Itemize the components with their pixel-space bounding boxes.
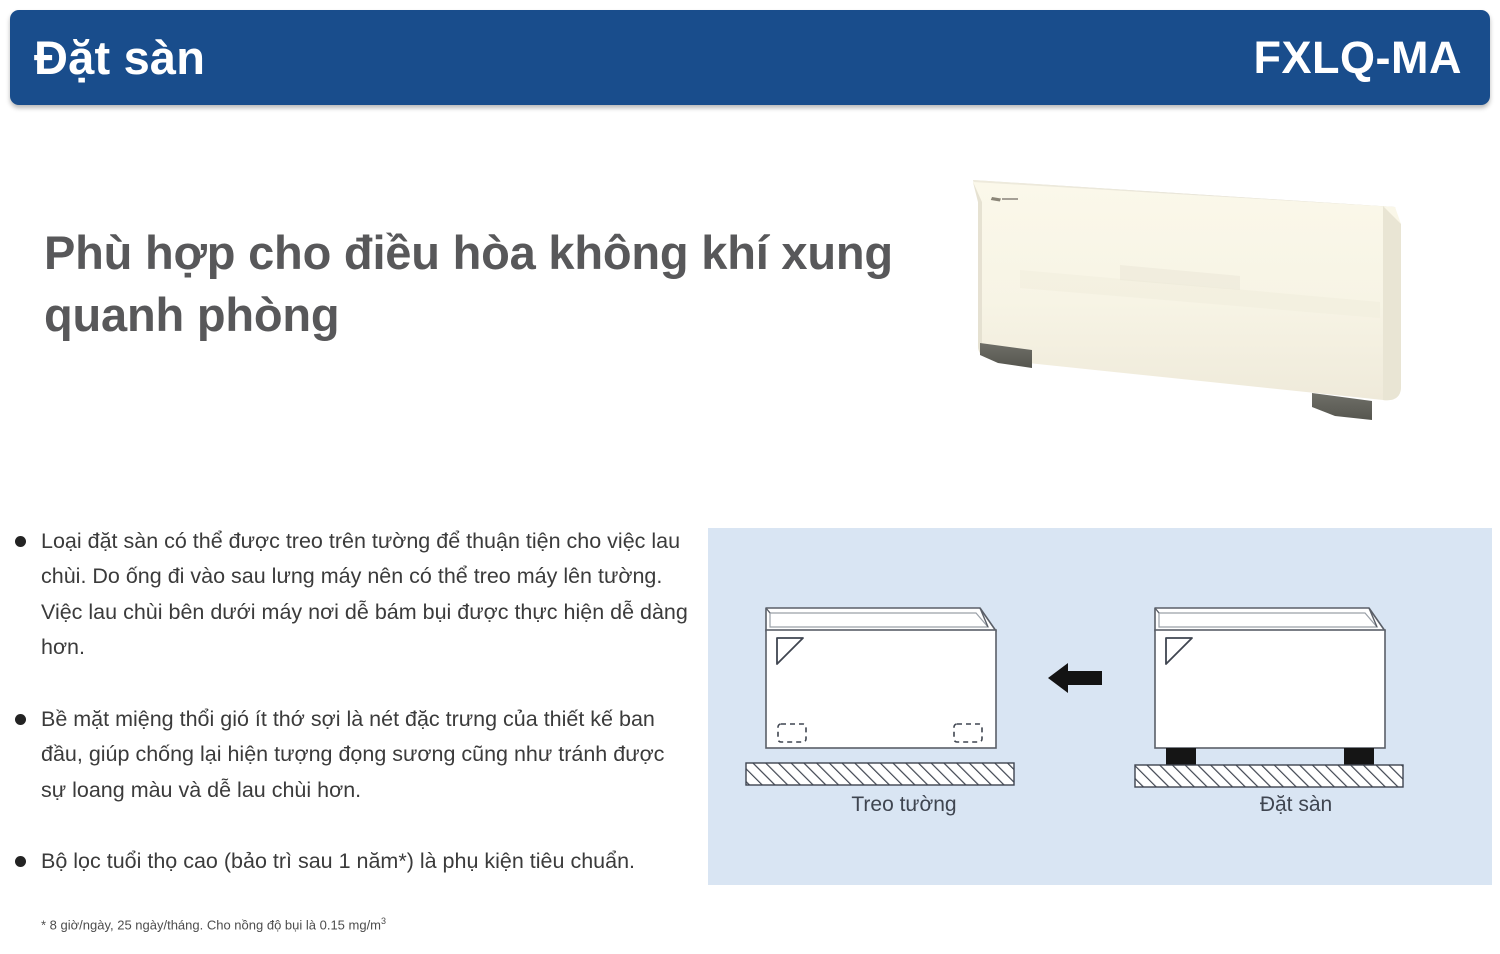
floor-standing-illustration [1100,528,1492,828]
page-header-bar: Đặt sàn FXLQ-MA [10,10,1490,105]
diagram-floor-standing: Đặt sàn [1100,528,1492,885]
mounting-comparison-diagram: Treo tường [708,528,1492,885]
floor-hatch [746,763,1014,785]
page-title: Đặt sàn [34,34,205,81]
transition-arrow [1046,658,1106,698]
bullet-text: Loại đặt sàn có thể được treo trên tường… [41,529,688,659]
diagram-label-floor-standing: Đặt sàn [1100,793,1492,817]
bullet-text: Bề mặt miệng thổi gió ít thớ sợi là nét … [41,707,664,802]
floor-hatch [1135,765,1403,787]
list-item: Bộ lọc tuổi thọ cao (bảo trì sau 1 năm*)… [8,844,688,879]
bullet-text: Bộ lọc tuổi thọ cao (bảo trì sau 1 năm*)… [41,849,635,873]
list-item: Bề mặt miệng thổi gió ít thớ sợi là nét … [8,702,688,808]
footnote: * 8 giờ/ngày, 25 ngày/tháng. Cho nồng độ… [8,916,688,934]
list-item: Loại đặt sàn có thể được treo trên tường… [8,524,688,666]
footnote-text: * 8 giờ/ngày, 25 ngày/tháng. Cho nồng độ… [41,917,381,932]
main-heading: Phù hợp cho điều hòa không khí xung quan… [44,222,924,346]
footnote-superscript: 3 [381,916,386,926]
unit-foot-right [1344,748,1374,766]
feature-bullet-list: Loại đặt sàn có thể được treo trên tường… [8,524,688,934]
wall-mounted-illustration [708,528,1100,828]
bullet-dot-icon [15,714,26,725]
diagram-wall-mounted: Treo tường [708,528,1100,885]
floor-standing-unit-illustration [940,150,1420,450]
bullet-dot-icon [15,856,26,867]
diagram-label-wall-mounted: Treo tường [708,793,1100,817]
bullet-dot-icon [15,536,26,547]
model-code: FXLQ-MA [1254,35,1462,80]
product-photo [940,150,1420,450]
unit-foot-left [1166,748,1196,766]
arrow-left-icon [1046,658,1106,698]
